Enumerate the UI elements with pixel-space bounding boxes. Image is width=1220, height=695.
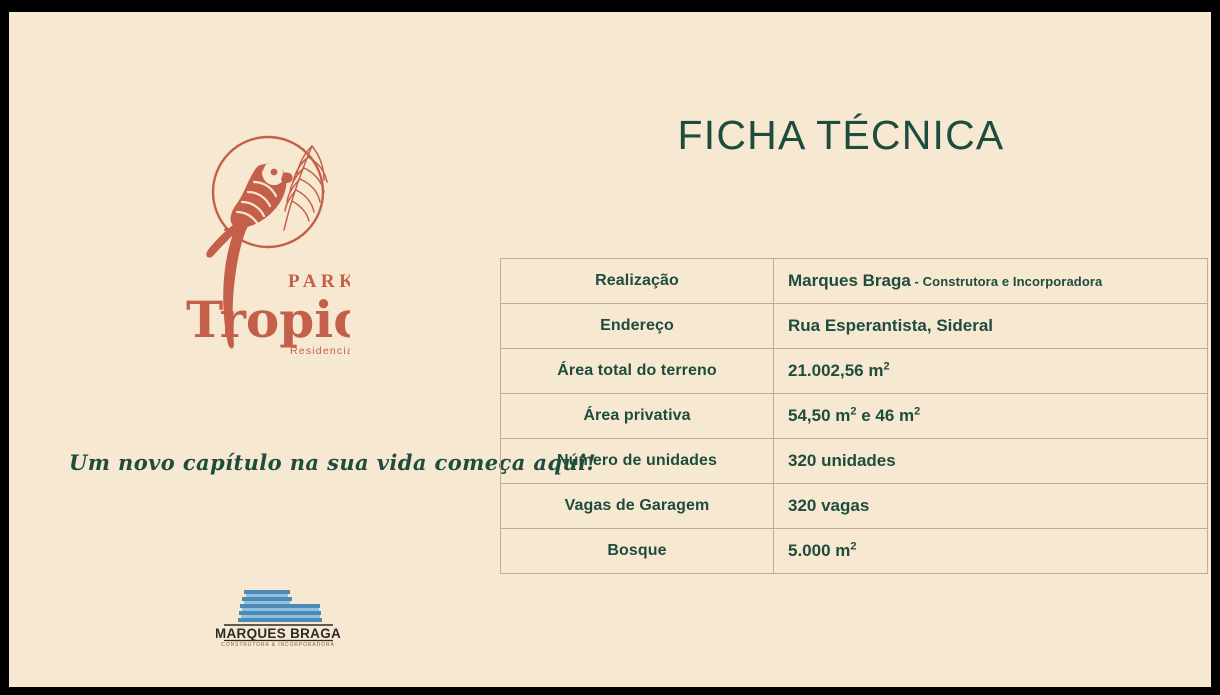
slide-canvas: PARK Tropical Residencial Um novo capítu… [9, 12, 1211, 687]
logo-tropical-word: Tropical [186, 290, 350, 349]
spec-value: 320 vagas [774, 484, 1208, 529]
spec-value: 21.002,56 m2 [774, 349, 1208, 394]
tagline: Um novo capítulo na sua vida começa aqui… [69, 450, 479, 475]
spec-value-main: 320 unidades [788, 451, 896, 470]
spec-panel: FICHA TÉCNICA Realização Marques Braga -… [491, 12, 1211, 687]
logo-park-word: PARK [288, 271, 350, 292]
table-row: Bosque 5.000 m2 [501, 529, 1208, 574]
spec-value-main: 21.002,56 m [788, 361, 883, 380]
spec-label: Número de unidades [501, 439, 774, 484]
table-row: Número de unidades 320 unidades [501, 439, 1208, 484]
spec-label: Área privativa [501, 394, 774, 439]
developer-name: MARQUES BRAGA [216, 626, 341, 641]
spec-value-main: 5.000 m [788, 541, 850, 560]
table-row: Área privativa 54,50 m2 e 46 m2 [501, 394, 1208, 439]
spec-label: Bosque [501, 529, 774, 574]
brand-column: PARK Tropical Residencial Um novo capítu… [9, 12, 489, 687]
spec-label: Área total do terreno [501, 349, 774, 394]
developer-subtitle: CONSTRUTORA & INCORPORADORA [221, 642, 334, 648]
table-row: Realização Marques Braga - Construtora e… [501, 259, 1208, 304]
spec-label: Vagas de Garagem [501, 484, 774, 529]
table-row: Endereço Rua Esperantista, Sideral [501, 304, 1208, 349]
slide-frame: PARK Tropical Residencial Um novo capítu… [0, 0, 1220, 695]
spec-value-sub: - Construtora e Incorporadora [911, 274, 1103, 289]
spec-value-mid: e 46 m [857, 406, 915, 425]
spec-value-main: 320 vagas [788, 496, 869, 515]
table-row: Área total do terreno 21.002,56 m2 [501, 349, 1208, 394]
logo-residencial-word: Residencial [290, 345, 350, 357]
spec-value-main: 54,50 m [788, 406, 850, 425]
spec-value: Marques Braga - Construtora e Incorporad… [774, 259, 1208, 304]
spec-value-main: Marques Braga [788, 271, 911, 290]
spec-value-superscript: 2 [850, 541, 856, 553]
spec-table: Realização Marques Braga - Construtora e… [500, 258, 1208, 574]
spec-value: 54,50 m2 e 46 m2 [774, 394, 1208, 439]
spec-label: Endereço [501, 304, 774, 349]
spec-value: 320 unidades [774, 439, 1208, 484]
page-title: FICHA TÉCNICA [491, 112, 1191, 159]
spec-value-superscript: 2 [883, 361, 889, 373]
spec-value: 5.000 m2 [774, 529, 1208, 574]
spec-value-main: Rua Esperantista, Sideral [788, 316, 993, 335]
building-skyline-icon [238, 590, 322, 622]
table-row: Vagas de Garagem 320 vagas [501, 484, 1208, 529]
spec-value: Rua Esperantista, Sideral [774, 304, 1208, 349]
spec-value-superscript-2: 2 [914, 406, 920, 418]
park-tropical-logo: PARK Tropical Residencial [180, 130, 350, 370]
marques-braga-logo: MARQUES BRAGA CONSTRUTORA & INCORPORADOR… [216, 580, 341, 648]
spec-label: Realização [501, 259, 774, 304]
